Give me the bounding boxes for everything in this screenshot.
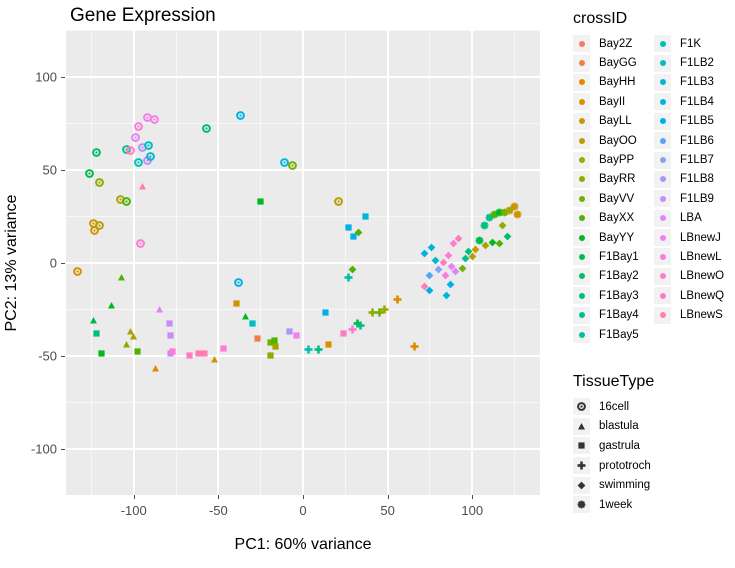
data-point [441,271,450,280]
legend-item-f1bay1[interactable]: F1Bay1 [573,247,639,266]
data-point [253,334,262,343]
data-point [150,115,159,124]
data-point [380,305,389,314]
data-point [73,267,82,276]
data-point [97,349,106,358]
legend-item-f1lb3[interactable]: F1LB3 [654,73,724,92]
plot-panel [66,30,540,495]
x-tick-label: 50 [358,503,418,518]
legend-shape-swatch [573,437,590,454]
data-point [168,347,177,356]
data-point [266,351,275,360]
data-point [348,325,357,334]
legend-item-bayii[interactable]: BayII [573,92,639,111]
legend-item-label: F1Bay1 [599,251,639,263]
x-tick-mark [472,495,473,499]
legend-color-swatch [654,248,671,265]
data-point [122,197,131,206]
legend-item-label: prototroch [599,460,651,472]
page-title: Gene Expression [66,2,546,30]
x-tick-mark [134,495,135,499]
legend-shape-swatch [573,477,590,494]
data-point [292,331,301,340]
data-point [144,141,153,150]
data-point [314,345,323,354]
legend-color-swatch [573,152,590,169]
legend-item-f1bay3[interactable]: F1Bay3 [573,286,639,305]
data-point [324,340,333,349]
legend-item-label: BayII [599,96,625,108]
y-tick-mark [61,77,65,78]
data-point [513,210,522,219]
data-point [458,264,467,273]
legend-color-swatch [654,132,671,149]
legend-item-label: F1LB3 [680,76,714,88]
legend-column-tissuetype: 16cellblastulagastrulaprototrochswimming… [573,397,651,515]
data-point [444,251,453,260]
legend-item-f1bay2[interactable]: F1Bay2 [573,267,639,286]
data-point [138,182,147,191]
legend-item-bayhh[interactable]: BayHH [573,73,639,92]
legend-item-lbnews[interactable]: LBnewS [654,305,724,324]
legend-color-swatch [573,35,590,52]
legend-item-label: Bay2Z [599,38,632,50]
data-point [354,228,363,237]
x-axis-label: PC1: 60% variance [66,536,540,554]
legend-item-1week[interactable]: 1week [573,495,651,515]
legend-color-swatch [573,74,590,91]
gridline-horizontal [66,76,540,78]
data-point [232,299,241,308]
legend-item-label: BayRR [599,173,635,185]
legend-color-swatch [573,326,590,343]
legend-color-swatch [654,55,671,72]
data-point [210,355,219,364]
data-point [288,161,297,170]
data-point [334,197,343,206]
legend-item-label: BayYY [599,232,634,244]
y-axis-label: PC2: 13% variance [3,194,21,331]
data-point [248,319,257,328]
data-point [471,245,480,254]
data-point [344,273,353,282]
data-point [304,345,313,354]
legend-shape-swatch [573,457,590,474]
data-point [122,340,131,349]
data-point [95,221,104,230]
y-tick-mark [61,263,65,264]
legend-item-baypp[interactable]: BayPP [573,150,639,169]
legend-shape-swatch [573,398,590,415]
data-point [134,122,143,131]
legend-item-label: F1LB7 [680,154,714,166]
legend-item-lba[interactable]: LBA [654,209,724,228]
legend-item-f1lb7[interactable]: F1LB7 [654,150,724,169]
data-point [256,197,265,206]
legend-item-label: LBnewJ [680,232,721,244]
legend-item-f1k[interactable]: F1K [654,34,724,53]
legend-item-label: BayGG [599,57,637,69]
data-point [410,342,419,351]
legend-item-label: BayVV [599,193,634,205]
data-point [481,241,490,250]
legend-color-swatch [654,74,671,91]
legend-item-lbnewq[interactable]: LBnewQ [654,286,724,305]
legend-item-bayoo[interactable]: BayOO [573,131,639,150]
legend-color-swatch [573,132,590,149]
legend-item-label: BayHH [599,76,635,88]
legend-item-f1lb8[interactable]: F1LB8 [654,170,724,189]
x-tick-label: 100 [442,503,502,518]
legend-color-swatch [573,171,590,188]
legend-item-f1lb6[interactable]: F1LB6 [654,131,724,150]
legend-item-label: F1K [680,38,701,50]
data-point [446,280,455,289]
legend-title-crossid: crossID [573,10,627,28]
legend-item-bay2z[interactable]: Bay2Z [573,34,639,53]
legend-item-lbnewo[interactable]: LBnewO [654,267,724,286]
legend-item-label: BayPP [599,154,634,166]
legend-item-baygg[interactable]: BayGG [573,53,639,72]
legend-item-bayrr[interactable]: BayRR [573,170,639,189]
legend-color-swatch [573,268,590,285]
data-point [155,305,164,314]
legend-color-swatch [573,113,590,130]
legend-item-label: BayXX [599,212,634,224]
data-point [95,178,104,187]
data-point [361,212,370,221]
legend-item-16cell[interactable]: 16cell [573,397,651,417]
data-point [89,316,98,325]
data-point [165,319,174,328]
legend-item-label: F1Bay4 [599,309,639,321]
legend-item-label: blastula [599,420,639,432]
legend-color-swatch [573,190,590,207]
legend-color-swatch [654,171,671,188]
legend-item-label: F1LB6 [680,135,714,147]
legend-color-swatch [654,113,671,130]
y-tick-mark [61,170,65,171]
data-point [271,342,280,351]
legend-item-label: F1LB2 [680,57,714,69]
legend-item-label: F1Bay2 [599,270,639,282]
legend-color-swatch [654,35,671,52]
legend-item-f1bay5[interactable]: F1Bay5 [573,325,639,344]
data-point [498,221,507,230]
data-point [425,286,434,295]
data-point [200,349,209,358]
data-point [356,321,365,330]
x-tick-label: 0 [273,503,333,518]
data-point [321,308,330,317]
legend-item-f1lb5[interactable]: F1LB5 [654,112,724,131]
legend-item-f1lb9[interactable]: F1LB9 [654,189,724,208]
data-point [393,295,402,304]
legend-shape-swatch [573,496,590,513]
data-point [151,364,160,373]
data-point [92,148,101,157]
legend-color-swatch [654,229,671,246]
legend-item-label: gastrula [599,440,640,452]
y-axis-label-wrap: PC2: 13% variance [0,30,24,495]
data-point [146,152,155,161]
legend-item-label: LBnewS [680,309,723,321]
data-point [454,234,463,243]
legend-item-swimming[interactable]: swimming [573,475,651,495]
data-point [503,232,512,241]
legend-item-label: 16cell [599,401,629,413]
data-point [126,146,135,155]
data-point [107,301,116,310]
legend-color-swatch [654,268,671,285]
data-point [344,223,353,232]
data-point [236,111,245,120]
legend-item-label: BayOO [599,135,637,147]
data-point [85,169,94,178]
legend-item-f1lb2[interactable]: F1LB2 [654,53,724,72]
legend-color-swatch [654,190,671,207]
legend-color-swatch [573,55,590,72]
legend-item-label: LBnewL [680,251,722,263]
x-tick-mark [388,495,389,499]
x-tick-label: -100 [104,503,164,518]
legend-color-swatch [573,248,590,265]
data-point [442,291,451,300]
y-tick-mark [61,449,65,450]
legend-item-lbnewj[interactable]: LBnewJ [654,228,724,247]
legend-item-label: 1week [599,499,632,511]
legend-item-bayvv[interactable]: BayVV [573,189,639,208]
legend-item-label: LBA [680,212,702,224]
y-tick-mark [61,356,65,357]
legend-column-crossid-1: Bay2ZBayGGBayHHBayIIBayLLBayOOBayPPBayRR… [573,34,639,344]
legend-color-swatch [654,152,671,169]
data-point [126,327,135,336]
legend-item-blastula[interactable]: blastula [573,417,651,437]
gridline-horizontal [66,169,540,171]
data-point [427,243,436,252]
legend-item-label: swimming [599,479,650,491]
legend-item-label: F1Bay5 [599,329,639,341]
legend-column-crossid-2: F1KF1LB2F1LB3F1LB4F1LB5F1LB6F1LB7F1LB8F1… [654,34,724,325]
legend-shape-swatch [573,418,590,435]
legend-color-swatch [573,93,590,110]
legend-color-swatch [654,210,671,227]
legend-item-label: LBnewQ [680,290,724,302]
legend-item-gastrula[interactable]: gastrula [573,436,651,456]
legend-color-swatch [654,307,671,324]
legend-item-label: F1LB8 [680,173,714,185]
legend-item-bayyy[interactable]: BayYY [573,228,639,247]
legend-area: crossIDBay2ZBayGGBayHHBayIIBayLLBayOOBay… [566,0,735,568]
legend-item-bayll[interactable]: BayLL [573,112,639,131]
legend-color-swatch [654,93,671,110]
data-point [219,344,228,353]
x-tick-mark [218,495,219,499]
data-point [234,278,243,287]
legend-item-label: F1Bay3 [599,290,639,302]
legend-title-tissuetype: TissueType [573,373,654,391]
legend-color-swatch [654,287,671,304]
legend-item-label: F1LB5 [680,115,714,127]
data-point [92,329,101,338]
data-point [202,124,211,133]
legend-item-label: LBnewO [680,270,724,282]
legend-item-label: BayLL [599,115,632,127]
legend-color-swatch [573,210,590,227]
data-point [117,273,126,282]
legend-color-swatch [573,307,590,324]
legend-item-bayxx[interactable]: BayXX [573,209,639,228]
legend-item-label: F1LB4 [680,96,714,108]
legend-item-prototroch[interactable]: prototroch [573,456,651,476]
data-point [131,133,140,142]
data-point [166,331,175,340]
legend-color-swatch [573,229,590,246]
data-point [136,239,145,248]
gridline-horizontal [66,448,540,450]
legend-item-f1lb4[interactable]: F1LB4 [654,92,724,111]
legend-color-swatch [573,287,590,304]
data-point [133,347,142,356]
legend-item-lbnewl[interactable]: LBnewL [654,247,724,266]
legend-item-f1bay4[interactable]: F1Bay4 [573,305,639,324]
x-tick-mark [303,495,304,499]
legend-item-label: F1LB9 [680,193,714,205]
x-tick-label: -50 [188,503,248,518]
